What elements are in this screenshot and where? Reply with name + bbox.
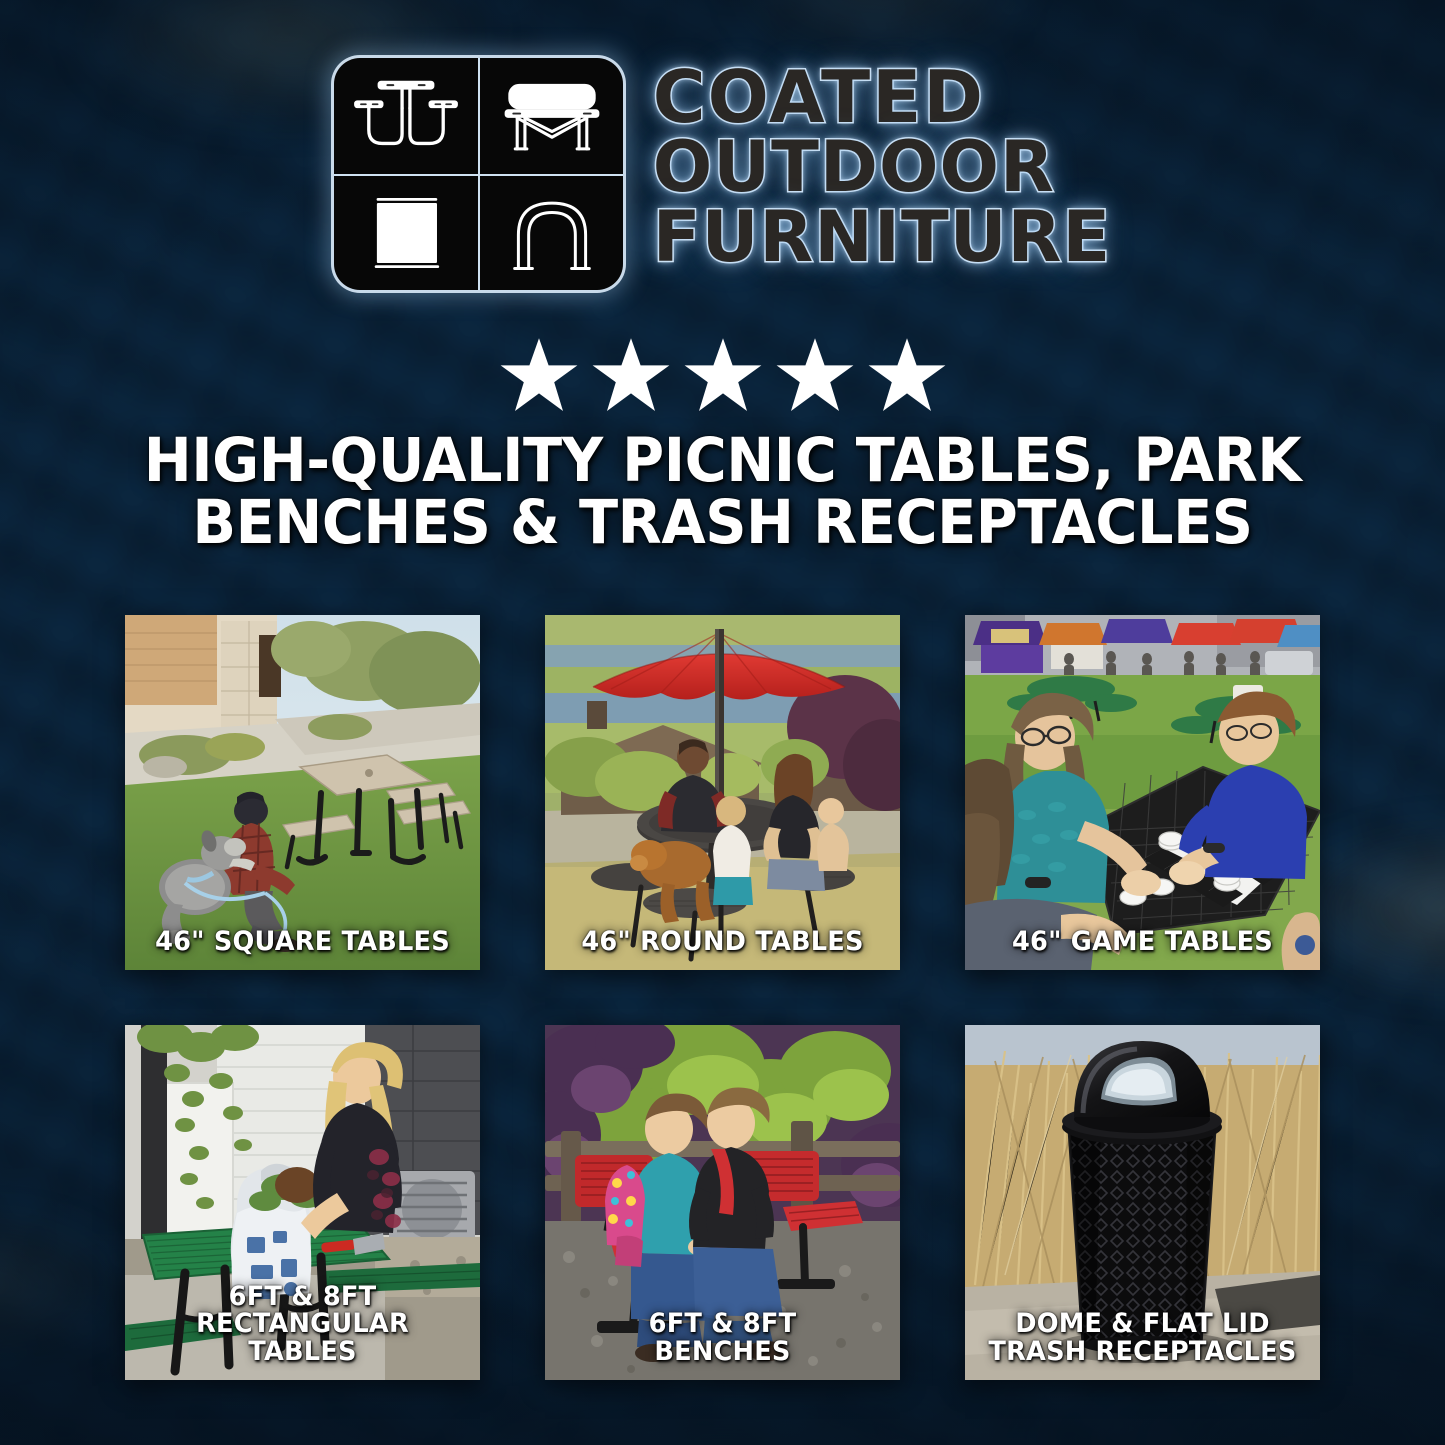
trash-receptacle-icon	[334, 174, 479, 290]
headline: HIGH-QUALITY PICNIC TABLES, PARK BENCHES…	[43, 430, 1401, 554]
caption-line-1: 6FT & 8FT	[140, 1283, 466, 1311]
caption-line-1: DOME & FLAT LID	[980, 1310, 1306, 1338]
product-caption-rectangular-tables: 6FT & 8FT RECTANGULAR TABLES	[140, 1283, 466, 1366]
product-photo-round-tables	[545, 615, 900, 970]
caption-line-2: TRASH RECEPTACLES	[980, 1338, 1306, 1366]
caption-line-1: 46" ROUND TABLES	[560, 928, 886, 956]
product-caption-trash-receptacles: DOME & FLAT LID TRASH RECEPTACLES	[980, 1310, 1306, 1366]
brand-logo-mark	[334, 58, 623, 290]
park-bench-icon	[478, 58, 623, 174]
product-tile-round-tables[interactable]: 46" ROUND TABLES	[545, 615, 900, 970]
product-tile-benches[interactable]: 6FT & 8FT BENCHES	[545, 1025, 900, 1380]
star-icon-5	[867, 336, 947, 414]
product-caption-benches: 6FT & 8FT BENCHES	[560, 1310, 886, 1366]
brand-line-3: FURNITURE	[653, 203, 1112, 272]
product-caption-round-tables: 46" ROUND TABLES	[560, 928, 886, 956]
product-tile-trash-receptacles[interactable]: DOME & FLAT LID TRASH RECEPTACLES	[965, 1025, 1320, 1380]
product-grid: 46" SQUARE TABLES	[125, 615, 1320, 1380]
product-tile-game-tables[interactable]: 46" GAME TABLES	[965, 615, 1320, 970]
caption-line-1: 6FT & 8FT	[560, 1310, 886, 1338]
product-caption-square-tables: 46" SQUARE TABLES	[140, 928, 466, 956]
product-tile-square-tables[interactable]: 46" SQUARE TABLES	[125, 615, 480, 970]
star-icon-2	[591, 336, 671, 414]
caption-line-2: BENCHES	[560, 1338, 886, 1366]
headline-line-2: BENCHES & TRASH RECEPTACLES	[43, 492, 1401, 554]
promo-poster: COATED OUTDOOR FURNITURE HIGH-QUALITY PI…	[0, 0, 1445, 1445]
bike-rack-icon	[478, 174, 623, 290]
brand-line-2: OUTDOOR	[653, 133, 1112, 202]
caption-line-2: RECTANGULAR TABLES	[140, 1310, 466, 1366]
brand-lockup: COATED OUTDOOR FURNITURE	[0, 58, 1445, 290]
star-icon-4	[775, 336, 855, 414]
picnic-table-icon	[334, 58, 479, 174]
headline-line-1: HIGH-QUALITY PICNIC TABLES, PARK	[43, 430, 1401, 492]
star-rating	[0, 336, 1445, 414]
caption-line-1: 46" GAME TABLES	[980, 928, 1306, 956]
product-photo-square-tables	[125, 615, 480, 970]
caption-line-1: 46" SQUARE TABLES	[140, 928, 466, 956]
brand-wordmark: COATED OUTDOOR FURNITURE	[653, 58, 1112, 272]
brand-line-1: COATED	[653, 62, 1112, 133]
product-caption-game-tables: 46" GAME TABLES	[980, 928, 1306, 956]
star-icon-3	[683, 336, 763, 414]
product-photo-game-tables	[965, 615, 1320, 970]
product-tile-rectangular-tables[interactable]: 6FT & 8FT RECTANGULAR TABLES	[125, 1025, 480, 1380]
star-icon-1	[499, 336, 579, 414]
